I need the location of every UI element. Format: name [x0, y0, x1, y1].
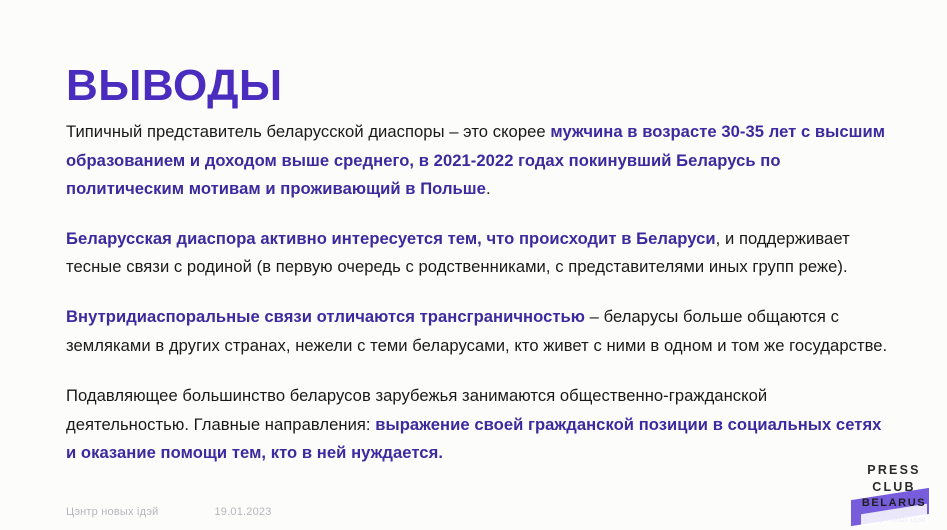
conclusion-paragraph-2: Беларусская диаспора активно интересуетс…	[66, 225, 888, 282]
slide-title: ВЫВОДЫ	[66, 63, 283, 109]
footer-date: 19.01.2023	[214, 506, 271, 518]
logo-line-press: PRESS	[859, 464, 929, 477]
paragraph-1-segment-period: .	[486, 179, 491, 198]
presentation-slide: ВЫВОДЫ Типичный представитель беларусско…	[0, 0, 947, 530]
press-club-belarus-logo: Цэнтр новых ідэй PRESS CLUB BELARUS	[855, 460, 929, 522]
paragraph-1-segment-plain: Типичный представитель беларусской диасп…	[66, 122, 550, 141]
logo-watermark-text: Цэнтр новых ідэй	[859, 517, 929, 524]
paragraph-3-segment-highlight: Внутридиаспоральные связи отличаются тра…	[66, 307, 585, 326]
conclusion-paragraph-4: Подавляющее большинство беларусов зарубе…	[66, 382, 888, 468]
paragraph-2-segment-highlight: Беларусская диаспора активно интересуетс…	[66, 229, 716, 248]
conclusion-paragraph-1: Типичный представитель беларусской диасп…	[66, 118, 888, 204]
slide-body: Типичный представитель беларусской диасп…	[66, 118, 888, 468]
conclusion-paragraph-3: Внутридиаспоральные связи отличаются тра…	[66, 303, 888, 360]
logo-line-club: CLUB	[859, 481, 929, 494]
logo-line-belarus: BELARUS	[859, 498, 929, 509]
slide-footer: Цэнтр новых ідэй 19.01.2023	[66, 506, 272, 518]
footer-organization: Цэнтр новых ідэй	[66, 506, 158, 518]
